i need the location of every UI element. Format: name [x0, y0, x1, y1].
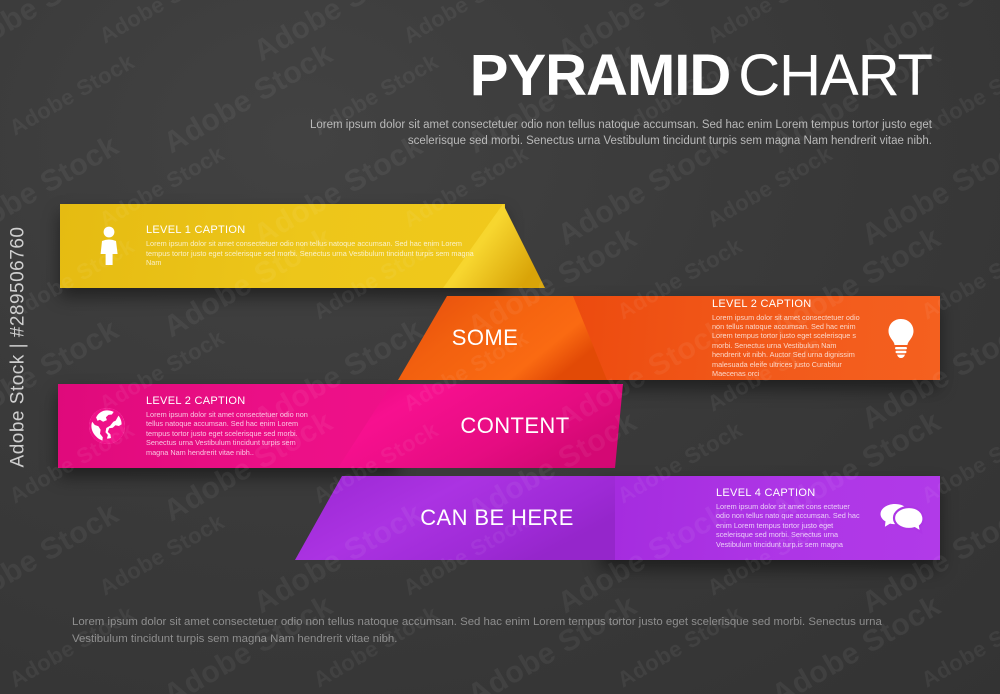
pyramid-level-3[interactable]: LEVEL 2 CAPTION Lorem ipsum dolor sit am…	[0, 384, 1000, 468]
level-2-caption-body: Lorem ipsum dolor sit amet consectetuer …	[712, 313, 862, 379]
watermark-text: Adobe Stock	[399, 0, 533, 49]
pyramid-level-2[interactable]: SOME LEVEL 2 CAPTION Lorem ipsum dolor s…	[0, 296, 1000, 380]
level-4-caption-body: Lorem ipsum dolor sit amet cons ectetuer…	[716, 502, 861, 549]
level-4-label-wrap: CAN BE HERE	[372, 476, 622, 560]
chat-bubbles-icon	[877, 495, 927, 541]
pyramid-level-4[interactable]: CAN BE HERE LEVEL 4 CAPTION Lorem ipsum …	[0, 476, 1000, 560]
level-4-caption: LEVEL 4 CAPTION Lorem ipsum dolor sit am…	[716, 487, 861, 549]
level-3-caption-body: Lorem ipsum dolor sit amet consectetuer …	[146, 410, 316, 457]
level-2-content: LEVEL 2 CAPTION Lorem ipsum dolor sit am…	[712, 296, 942, 380]
level-2-caption-title: LEVEL 2 CAPTION	[712, 298, 862, 310]
level-2-big-label: SOME	[452, 325, 518, 351]
infographic-canvas: Adobe StockAdobe StockAdobe StockAdobe S…	[0, 0, 1000, 694]
level-1-caption-title: LEVEL 1 CAPTION	[146, 224, 476, 236]
level-2-label-wrap: SOME	[400, 296, 570, 380]
title-light-part: CHART	[738, 43, 932, 108]
watermark-text: Adobe Stock	[95, 0, 229, 49]
person-icon	[86, 223, 132, 269]
page-title: PYRAMIDCHART	[252, 46, 932, 106]
level-1-content: LEVEL 1 CAPTION Lorem ipsum dolor sit am…	[86, 204, 506, 288]
level-3-caption: LEVEL 2 CAPTION Lorem ipsum dolor sit am…	[146, 395, 316, 457]
header: PYRAMIDCHART Lorem ipsum dolor sit amet …	[252, 46, 932, 149]
lightbulb-icon	[878, 315, 924, 361]
level-2-caption: LEVEL 2 CAPTION Lorem ipsum dolor sit am…	[712, 298, 862, 379]
level-4-content: LEVEL 4 CAPTION Lorem ipsum dolor sit am…	[716, 476, 941, 560]
level-1-caption-body: Lorem ipsum dolor sit amet consectetuer …	[146, 239, 476, 267]
stock-id-sidebar: Adobe Stock | #289506760	[0, 0, 36, 694]
stock-id-label: Adobe Stock | #289506760	[7, 227, 29, 468]
level-4-big-label: CAN BE HERE	[420, 505, 574, 531]
footer-text: Lorem ipsum dolor sit amet consectetuer …	[72, 614, 932, 648]
level-1-caption: LEVEL 1 CAPTION Lorem ipsum dolor sit am…	[146, 224, 476, 267]
watermark-text: Adobe Stock	[703, 0, 837, 49]
level-3-caption-title: LEVEL 2 CAPTION	[146, 395, 316, 407]
title-bold-part: PYRAMID	[470, 43, 730, 108]
level-3-big-label: CONTENT	[460, 413, 569, 439]
level-4-caption-title: LEVEL 4 CAPTION	[716, 487, 861, 499]
level-3-label-wrap: CONTENT	[430, 384, 600, 468]
pyramid-level-1[interactable]: LEVEL 1 CAPTION Lorem ipsum dolor sit am…	[0, 204, 1000, 288]
header-subtitle: Lorem ipsum dolor sit amet consectetuer …	[252, 118, 932, 149]
level-3-content: LEVEL 2 CAPTION Lorem ipsum dolor sit am…	[84, 384, 384, 468]
globe-icon	[84, 403, 130, 449]
